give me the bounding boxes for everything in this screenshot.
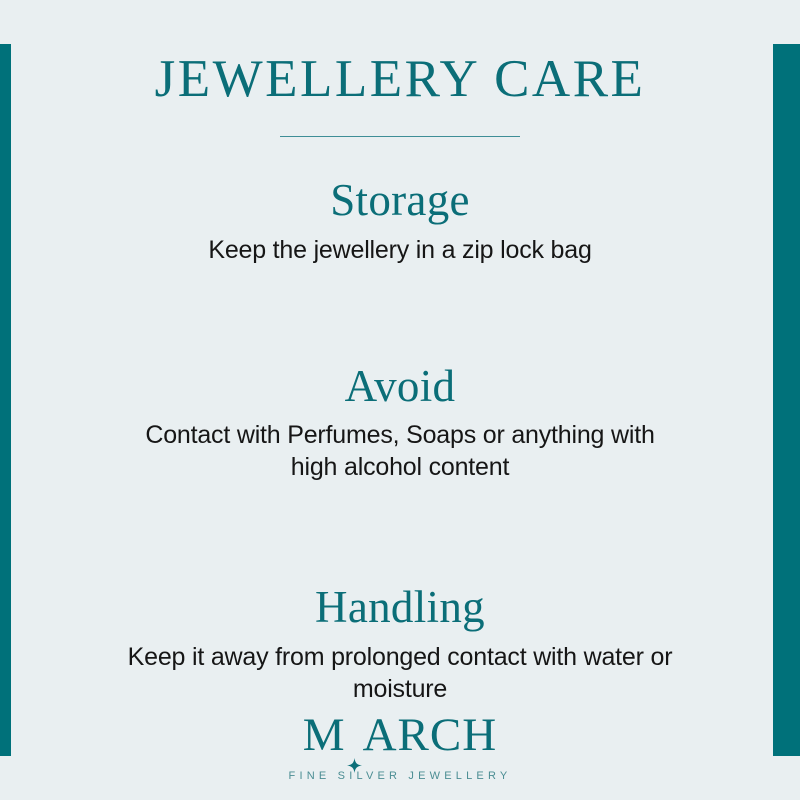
jewellery-care-card: JEWELLERY CARE Storage Keep the jeweller… (0, 0, 800, 800)
section-heading-storage: Storage (0, 176, 800, 226)
logo-tagline: FINE SILVER JEWELLERY (0, 770, 800, 782)
care-section-storage: Storage Keep the jewellery in a zip lock… (0, 176, 800, 266)
logo-letter-m: M (303, 712, 346, 759)
care-section-handling: Handling Keep it away from prolonged con… (0, 583, 800, 705)
page-title: JEWELLERY CARE (0, 52, 800, 108)
section-heading-avoid: Avoid (0, 362, 800, 412)
header: JEWELLERY CARE (0, 52, 800, 137)
care-section-avoid: Avoid Contact with Perfumes, Soaps or an… (0, 362, 800, 484)
logo-wordmark: M ARCH (303, 712, 497, 759)
care-sections: Storage Keep the jewellery in a zip lock… (0, 176, 800, 705)
four-point-star-icon (347, 735, 362, 750)
logo-letters-arch: ARCH (363, 712, 498, 759)
section-body-avoid: Contact with Perfumes, Soaps or anything… (120, 419, 680, 483)
section-body-storage: Keep the jewellery in a zip lock bag (120, 234, 680, 266)
brand-logo: M ARCH FINE SILVER JEWELLERY (0, 712, 800, 782)
section-heading-handling: Handling (0, 583, 800, 633)
section-body-handling: Keep it away from prolonged contact with… (120, 641, 680, 705)
title-divider (280, 136, 520, 138)
